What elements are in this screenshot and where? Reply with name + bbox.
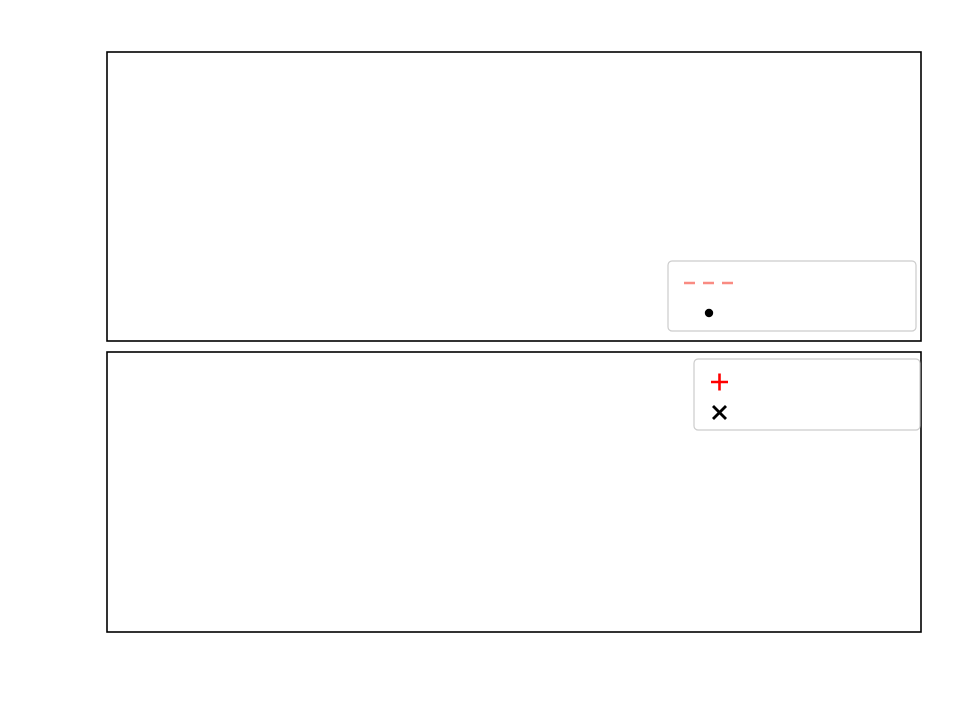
matplotlib-figure [0, 0, 960, 720]
top-panel [107, 52, 921, 341]
top-legend-item-measurements[interactable] [705, 309, 713, 317]
bottom-legend[interactable] [694, 359, 920, 430]
measurements-legend-swatch [705, 309, 713, 317]
bottom-legend-box [694, 359, 920, 430]
top-legend-box [668, 261, 916, 331]
top-legend[interactable] [668, 261, 916, 331]
bottom-panel [107, 352, 921, 632]
figure-canvas [0, 0, 960, 720]
